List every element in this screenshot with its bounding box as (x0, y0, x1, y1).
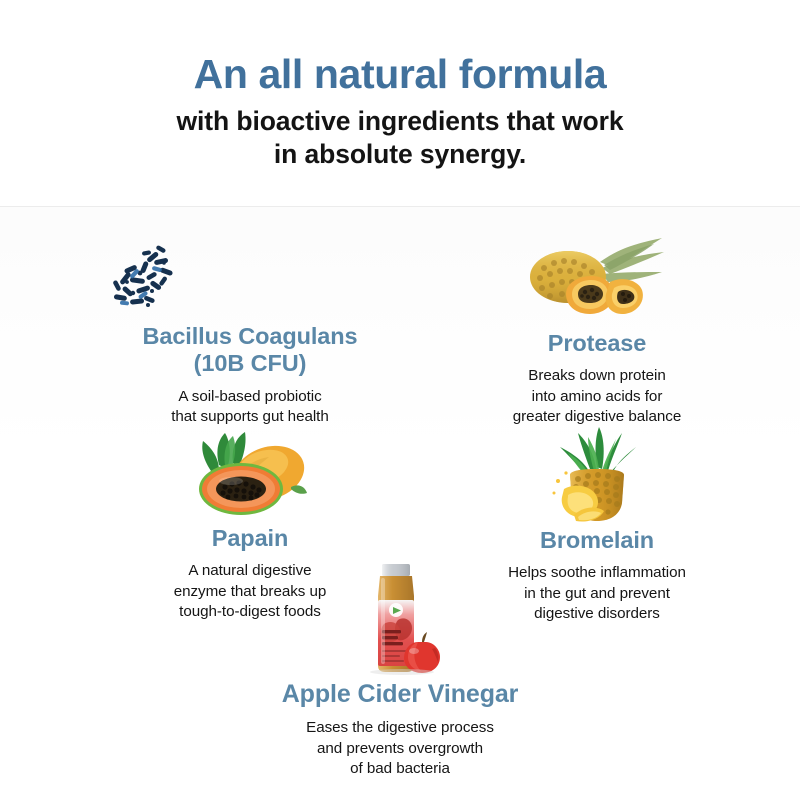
vinegar-bottle-apple-icon (265, 562, 535, 674)
ingredient-title: Bromelain (447, 527, 747, 554)
papaya-icon (125, 431, 375, 519)
ingredient-description: A soil-based probiotic that supports gut… (100, 387, 400, 428)
ingredient-description: Breaks down protein into amino acids for… (447, 366, 747, 427)
page-subtitle: with bioactive ingredients that work in … (177, 105, 624, 172)
ingredient-title: Protease (447, 330, 747, 357)
ingredient-title-line-2: (10B CFU) (194, 350, 307, 376)
ingredient-title: Bacillus Coagulans (10B CFU) (100, 323, 400, 378)
page-title: An all natural formula (194, 52, 607, 98)
ingredient-card-protease: Protease Breaks down protein into amino … (447, 232, 747, 428)
header-section: An all natural formula with bioactive in… (0, 0, 800, 206)
ingredient-title-line-1: Bacillus Coagulans (143, 323, 358, 349)
ingredient-title: Apple Cider Vinegar (265, 680, 535, 709)
subtitle-line-1: with bioactive ingredients that work (177, 106, 624, 136)
ingredient-title: Papain (125, 525, 375, 552)
ingredient-description: Eases the digestive process and prevents… (265, 718, 535, 779)
pineapple-icon (447, 427, 747, 523)
ingredient-card-bacillus: Bacillus Coagulans (10B CFU) A soil-base… (100, 243, 400, 428)
ingredient-card-apple-cider-vinegar: Apple Cider Vinegar Eases the digestive … (265, 562, 535, 779)
pineapple-papaya-icon (447, 232, 747, 324)
ingredients-infographic: An all natural formula with bioactive in… (0, 0, 800, 800)
subtitle-line-2: in absolute synergy. (274, 139, 526, 169)
bacteria-rods-icon (100, 243, 400, 311)
